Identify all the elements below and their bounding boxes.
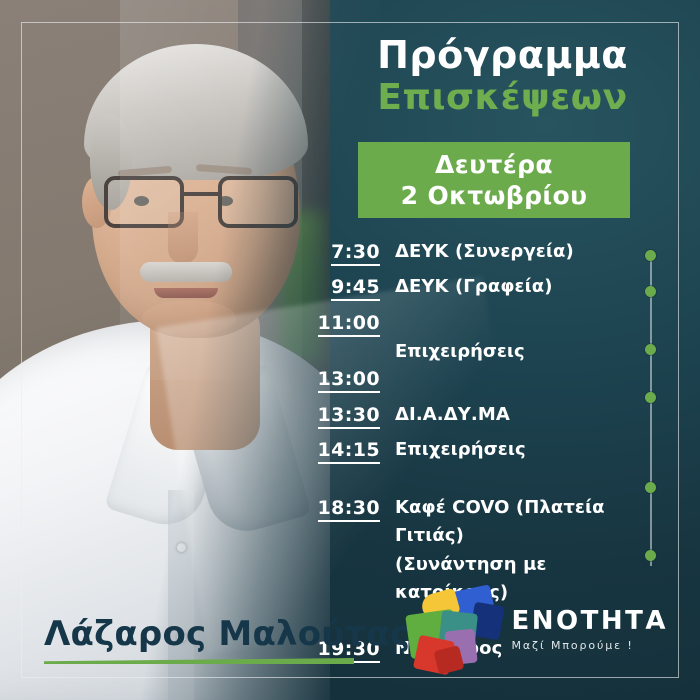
logo-title: ΕΝΟΤΗΤΑ (512, 608, 668, 634)
schedule-item: 9:45 ΔΕΥΚ (Γραφεία) (296, 273, 648, 302)
candidate-photo (0, 0, 330, 700)
timeline-dot (645, 482, 656, 493)
schedule-item: 13:30 ΔΙ.Α.ΔΥ.ΜΑ (296, 401, 648, 430)
name-underline (44, 658, 354, 664)
puzzle-icon (406, 586, 502, 672)
logo-slogan: Μαζί Μπορούμε ! (512, 640, 668, 651)
schedule-item: 14:15 Επιχειρήσεις (296, 436, 648, 465)
schedule-time-end: 13:00 (296, 365, 380, 394)
timeline-line (650, 250, 652, 566)
schedule-time: 18:30 (296, 494, 380, 523)
timeline-dot (645, 344, 656, 355)
schedule-time: 14:15 (296, 436, 380, 465)
schedule-event: ΔΙ.Α.ΔΥ.ΜΑ (380, 401, 510, 429)
party-logo: ΕΝΟΤΗΤΑ Μαζί Μπορούμε ! (406, 586, 668, 672)
schedule-event: Επιχειρήσεις (380, 436, 526, 464)
date-value: 2 Οκτωβρίου (401, 180, 588, 212)
photo-edge-fade (0, 0, 330, 700)
date-weekday: Δευτέρα (435, 149, 553, 181)
candidate-name: Λάζαρος Μαλούτας (44, 614, 410, 654)
schedule-event: Επιχειρήσεις (296, 338, 648, 365)
poster-canvas: Πρόγραμμα Επισκέψεων Δευτέρα 2 Οκτωβρίου… (0, 0, 700, 700)
timeline-dot (645, 286, 656, 297)
date-banner: Δευτέρα 2 Οκτωβρίου (358, 142, 630, 218)
puzzle-piece-red-2 (433, 645, 464, 675)
schedule-item-range: 11:00 Επιχειρήσεις 13:00 (296, 309, 648, 395)
logo-text: ΕΝΟΤΗΤΑ Μαζί Μπορούμε ! (512, 608, 668, 651)
timeline-dot (645, 550, 656, 561)
schedule-time: 13:30 (296, 401, 380, 430)
schedule-time-start: 11:00 (296, 309, 380, 338)
timeline-rail (645, 246, 657, 566)
schedule-gap (296, 472, 648, 494)
timeline-dot (645, 392, 656, 403)
schedule-event: ΔΕΥΚ (Γραφεία) (380, 273, 553, 301)
schedule-time: 7:30 (296, 238, 380, 267)
candidate-name-block: Λάζαρος Μαλούτας (44, 614, 426, 664)
page-subtitle: Επισκέψεων (330, 77, 675, 118)
schedule-event: ΔΕΥΚ (Συνεργεία) (380, 238, 574, 266)
schedule-time: 9:45 (296, 273, 380, 302)
poster-heading: Πρόγραμμα Επισκέψεων (330, 34, 675, 118)
timeline-dot (645, 250, 656, 261)
page-title: Πρόγραμμα (330, 34, 675, 77)
schedule-event-line1: Καφέ COVO (Πλατεία Γιτιάς) (395, 497, 605, 546)
schedule-item: 7:30 ΔΕΥΚ (Συνεργεία) (296, 238, 648, 267)
